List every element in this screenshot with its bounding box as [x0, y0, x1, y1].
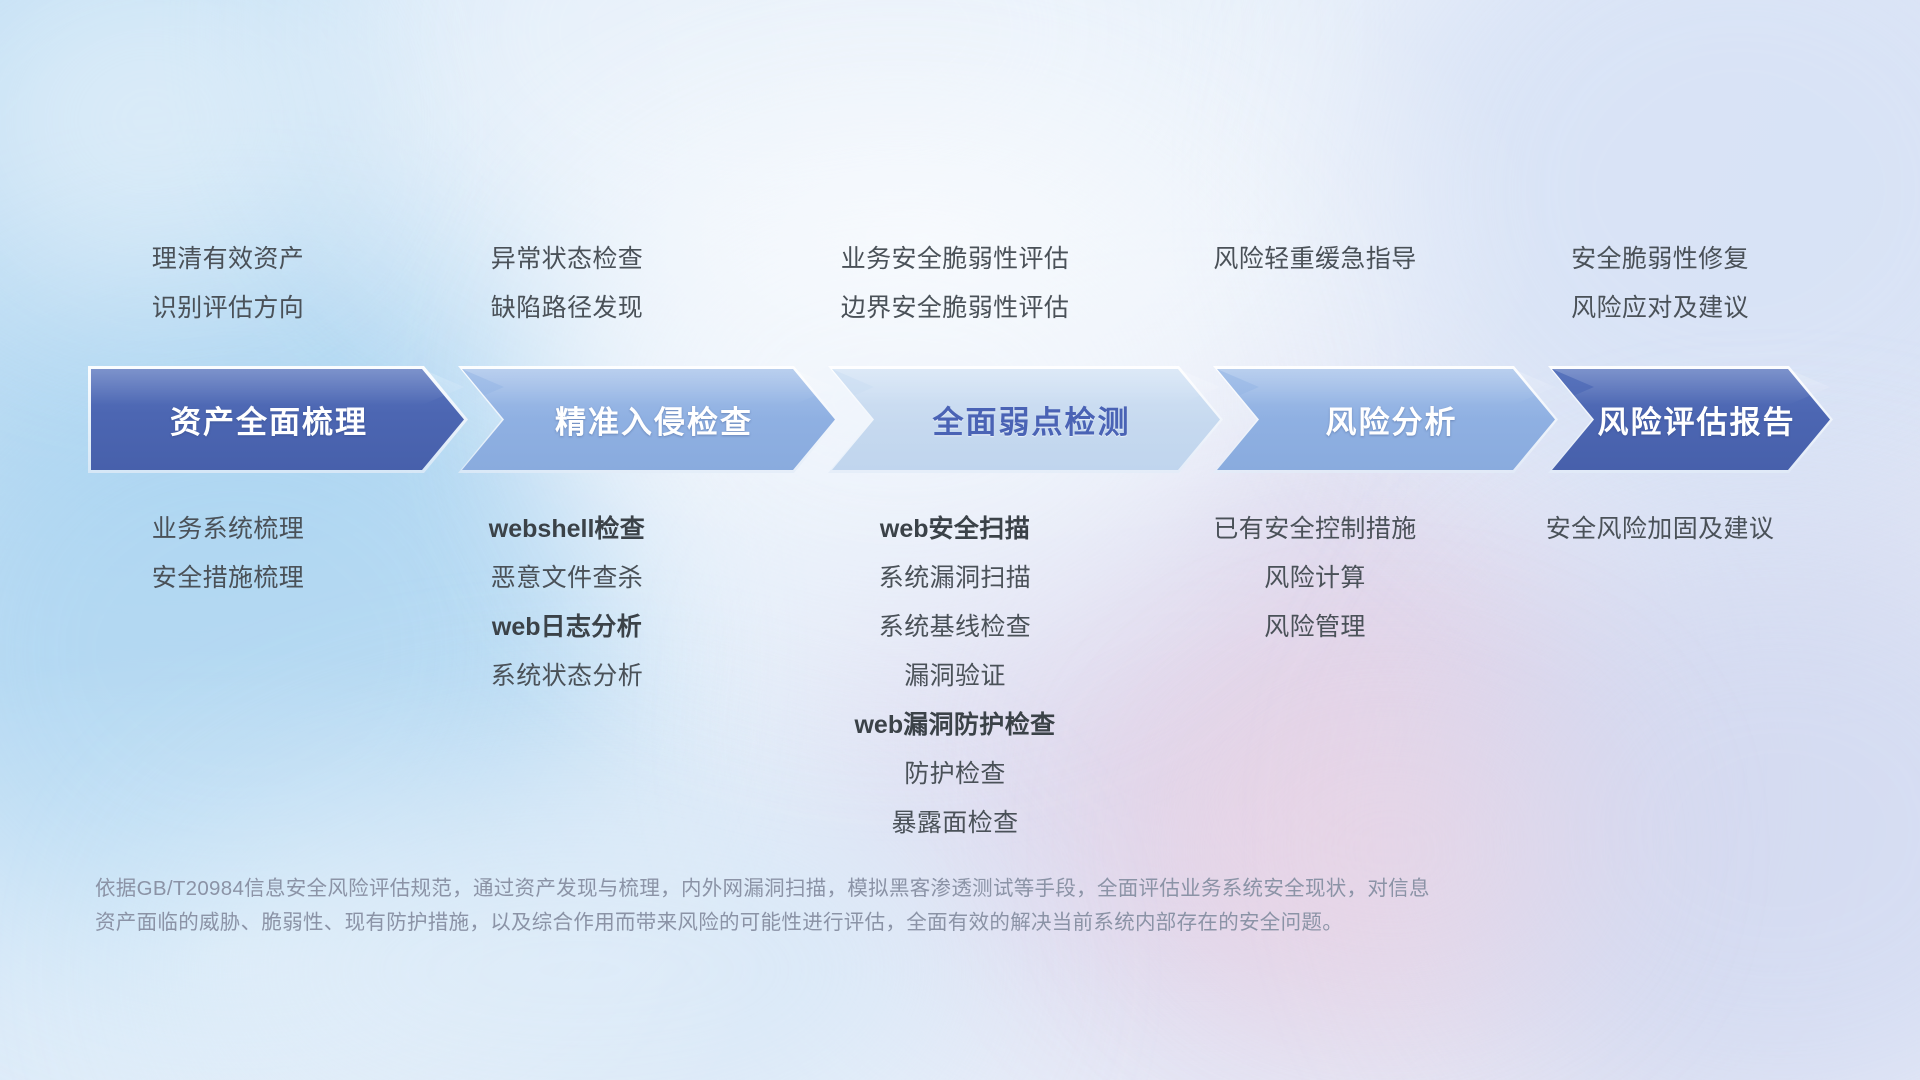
process-arrow-weakness-detection[interactable]: 全面弱点检测: [828, 366, 1223, 473]
footer-line-1: 依据GB/T20984信息安全风险评估规范，通过资产发现与梳理，内外网漏洞扫描，…: [95, 872, 1625, 906]
note-item: 风险计算: [1015, 554, 1615, 603]
slide-canvas: 理清有效资产识别评估方向异常状态检查缺陷路径发现业务安全脆弱性评估边界安全脆弱性…: [0, 0, 1920, 1080]
arrow-label-risk-analysis: 风险分析: [1326, 397, 1458, 442]
arrow-label-weakness-detection: 全面弱点检测: [933, 397, 1131, 442]
footer-line-2: 资产面临的威胁、脆弱性、现有防护措施，以及综合作用而带来风险的可能性进行评估，全…: [95, 906, 1625, 940]
process-arrow-risk-analysis[interactable]: 风险分析: [1213, 366, 1558, 473]
footer-description: 依据GB/T20984信息安全风险评估规范，通过资产发现与梳理，内外网漏洞扫描，…: [95, 872, 1625, 940]
note-latin-token: webshell: [489, 515, 595, 543]
arrow-label-risk-report: 风险评估报告: [1598, 397, 1796, 442]
note-item: 暴露面检查: [655, 799, 1255, 848]
note-item: 防护检查: [655, 750, 1255, 799]
note-item: web漏洞防护检查: [655, 701, 1255, 750]
arrow-label-intrusion-check: 精准入侵检查: [555, 397, 753, 442]
process-arrow-asset-inventory[interactable]: 资产全面梳理: [88, 366, 468, 473]
bottom-notes-risk-report: 安全风险加固及建议: [1360, 505, 1920, 554]
note-item: 漏洞验证: [655, 652, 1255, 701]
note-item: 安全风险加固及建议: [1360, 505, 1920, 554]
note-latin-token: web: [854, 711, 903, 739]
process-arrow-risk-report[interactable]: 风险评估报告: [1548, 366, 1833, 473]
arrow-label-asset-inventory: 资产全面梳理: [170, 397, 368, 442]
note-latin-token: web: [880, 515, 929, 543]
note-item: 风险管理: [1015, 603, 1615, 652]
process-arrow-band: 资产全面梳理精准入侵检查全面弱点检测风险分析风险评估报告: [88, 366, 1833, 473]
note-latin-token: web: [492, 613, 541, 641]
process-arrow-intrusion-check[interactable]: 精准入侵检查: [458, 366, 838, 473]
